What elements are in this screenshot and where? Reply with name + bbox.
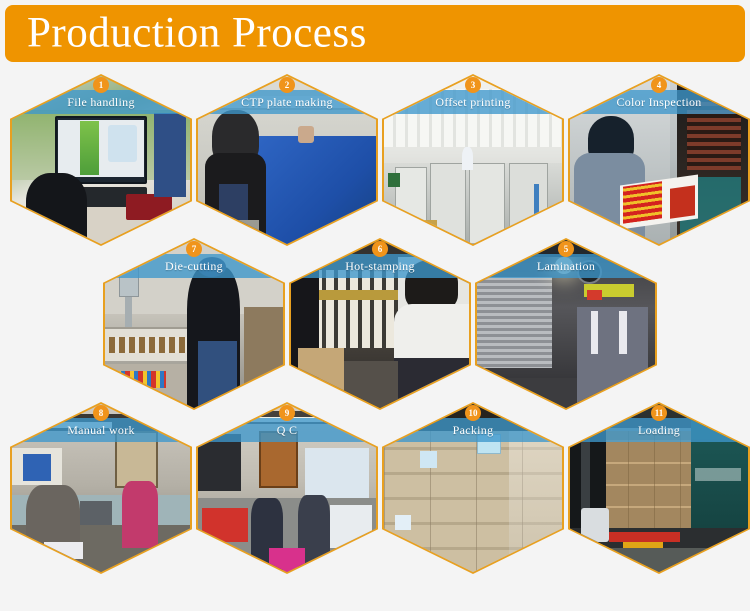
header-banner: Production Process [5,5,745,62]
hex-photo-frame: Manual work [12,404,190,572]
step-label: File handling [67,96,135,108]
step-label: CTP plate making [241,96,333,108]
hex-photo-frame: Color Inspection [570,76,748,244]
step-label: Q C [277,424,298,436]
hex-photo-frame: Die-cutting [105,240,283,408]
process-step-2[interactable]: CTP plate making 2 [196,74,378,246]
step-label: Color Inspection [616,96,701,108]
hex-photo-frame: Offset printing [384,76,562,244]
hex-photo-frame: Packing [384,404,562,572]
hex-label-band: Hot-stamping [291,254,469,278]
step-label: Offset printing [435,96,510,108]
hex-label-band: Die-cutting [105,254,283,278]
step-label: Die-cutting [165,260,223,272]
process-step-7[interactable]: Die-cutting 7 [103,238,285,410]
step-number-badge: 4 [651,77,667,93]
step-number-badge: 11 [651,405,667,421]
step-number-badge: 3 [465,77,481,93]
hex-label-band: Offset printing [384,90,562,114]
hex-label-band: Q C [198,418,376,442]
hex-photo-frame: File handling [12,76,190,244]
process-step-3[interactable]: Offset printing 3 [382,74,564,246]
step-label: Lamination [537,260,595,272]
step-number-badge: 7 [186,241,202,257]
process-step-11[interactable]: Loading 11 [568,402,750,574]
page-title: Production Process [27,11,367,54]
hex-label-band: Packing [384,418,562,442]
process-step-8[interactable]: Manual work 8 [10,402,192,574]
step-number-badge: 6 [372,241,388,257]
step-label: Hot-stamping [345,260,415,272]
step-label: Loading [638,424,680,436]
step-number-badge: 8 [93,405,109,421]
hex-label-band: Lamination [477,254,655,278]
step-number-badge: 5 [558,241,574,257]
hex-photo-frame: Hot-stamping [291,240,469,408]
production-process-hex-grid: File handling 1 CTP plate making 2 [0,62,750,611]
process-step-6[interactable]: Hot-stamping 6 [289,238,471,410]
hex-label-band: CTP plate making [198,90,376,114]
hex-label-band: File handling [12,90,190,114]
hex-label-band: Color Inspection [570,90,748,114]
hex-label-band: Manual work [12,418,190,442]
hex-label-band: Loading [570,418,748,442]
step-number-badge: 9 [279,405,295,421]
process-step-9[interactable]: Q C 9 [196,402,378,574]
process-step-10[interactable]: Packing 10 [382,402,564,574]
step-number-badge: 10 [465,405,481,421]
step-number-badge: 1 [93,77,109,93]
hex-photo-frame: Q C [198,404,376,572]
hex-photo-frame: Loading [570,404,748,572]
step-label: Packing [453,424,494,436]
step-label: Manual work [67,424,135,436]
process-step-5[interactable]: Lamination 5 [475,238,657,410]
hex-photo-frame: Lamination [477,240,655,408]
hex-photo-frame: CTP plate making [198,76,376,244]
process-step-1[interactable]: File handling 1 [10,74,192,246]
step-number-badge: 2 [279,77,295,93]
process-step-4[interactable]: Color Inspection 4 [568,74,750,246]
